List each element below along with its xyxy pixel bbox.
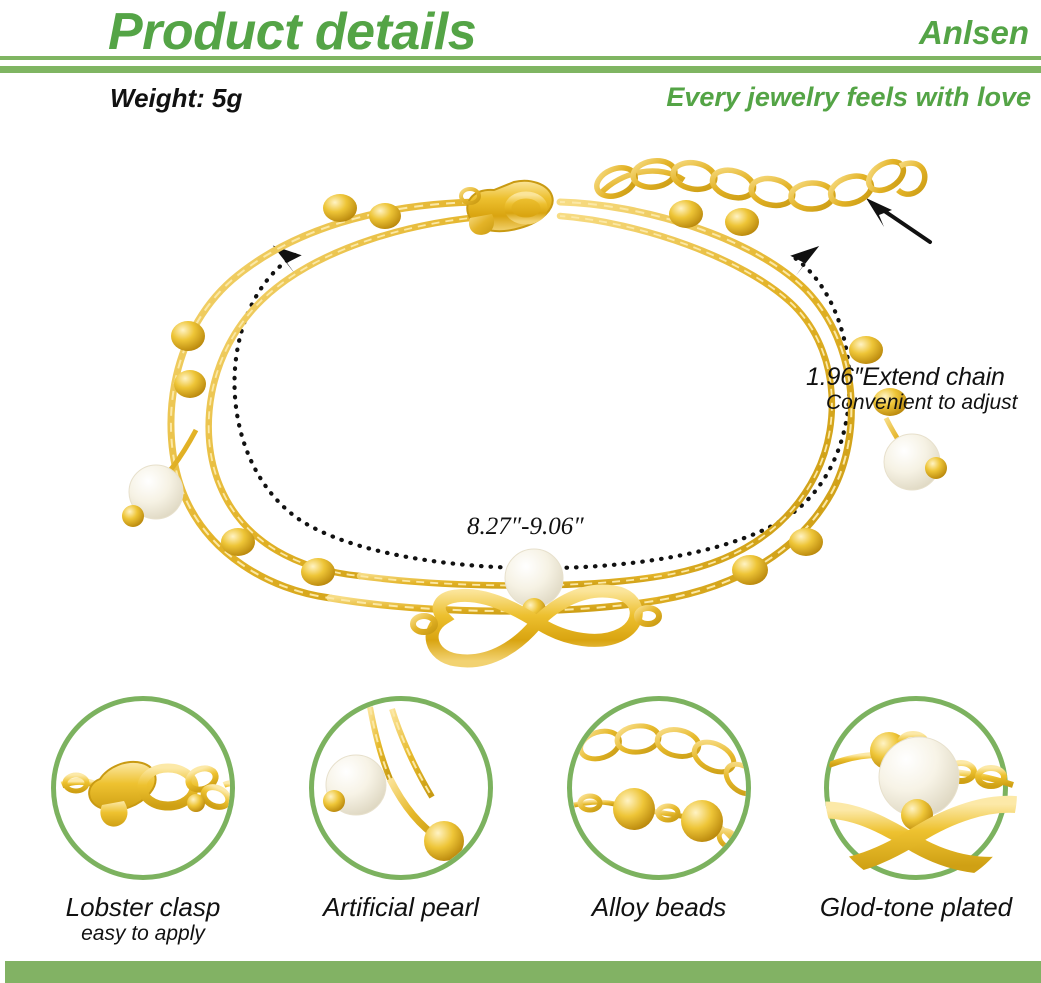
feature-image-alloy-beads [567,696,751,880]
page-header: Product details Anlsen Weight: 5g Every … [0,0,1041,130]
header-divider-thin [0,56,1041,60]
extender-chain [593,156,925,210]
feature-item-artificial-pearl: Artificial pearl [303,696,499,880]
feature-item-alloy-beads: Alloy beads [561,696,757,880]
feature-image-gold-tone-plated [824,696,1008,880]
brand-tagline: Every jewelry feels with love [666,82,1031,113]
page-title: Product details [108,2,476,62]
feature-image-artificial-pearl [309,696,493,880]
extend-chain-note: 1.96″Extend chain [806,363,1005,392]
product-detail-page: Product details Anlsen Weight: 5g Every … [0,0,1041,983]
header-divider-thick [0,66,1041,73]
product-photo: 1.96″Extend chain Convenient to adjust 8… [0,130,1041,690]
size-label: 8.27″-9.06″ [467,513,584,541]
lobster-clasp [461,181,553,235]
footer-bar [5,961,1041,983]
brand-name: Anlsen [919,14,1029,52]
pearl-dangle-right [884,418,947,490]
extend-chain-arrow [866,198,930,242]
feature-caption: Artificial pearl [303,892,499,923]
feature-item-lobster-clasp: Lobster clasp easy to apply [45,696,241,880]
feature-item-gold-tone-plated: Glod-tone plated [818,696,1014,880]
pearl-dangle-left [122,430,196,527]
extend-chain-subnote: Convenient to adjust [826,391,1017,415]
feature-subcaption: easy to apply [45,922,241,946]
feature-caption: Glod-tone plated [818,892,1014,923]
feature-caption: Lobster clasp [45,892,241,923]
weight-label: Weight: 5g [110,83,242,114]
feature-row: Lobster clasp easy to apply [0,696,1041,956]
feature-caption: Alloy beads [561,892,757,923]
feature-image-lobster-clasp [51,696,235,880]
